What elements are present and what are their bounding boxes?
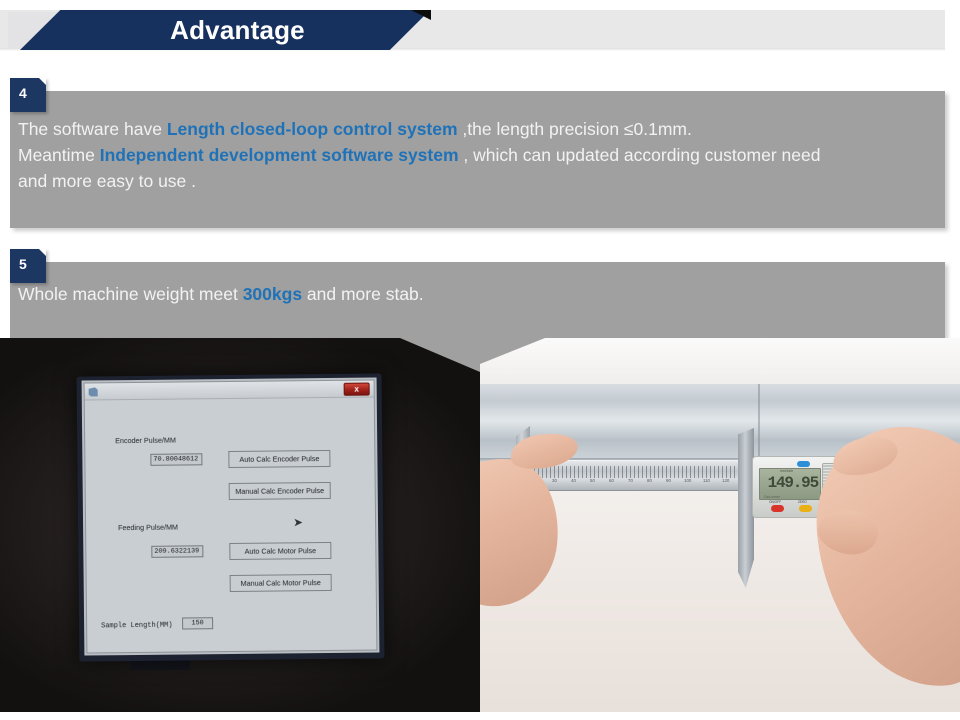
slide-root: Advantage 4 The software have Length clo… bbox=[0, 0, 960, 720]
caliper-lcd-display: mm/inch 149.95 Calc meter bbox=[759, 468, 821, 500]
notch-left-triangle bbox=[400, 338, 480, 372]
panel-4-line-3-part-1: and more easy to use . bbox=[18, 171, 196, 191]
panel-5-line-1: Whole machine weight meet 300kgs and mor… bbox=[18, 281, 933, 307]
manual-calc-encoder-pulse-button[interactable]: Manual Calc Encoder Pulse bbox=[229, 482, 331, 500]
caliper-tick-label: 100 bbox=[684, 478, 691, 483]
caliper-lcd-value: 149.95 bbox=[768, 474, 818, 492]
notch-right-triangle bbox=[480, 338, 545, 364]
bottom-white-strip bbox=[0, 712, 960, 720]
advantage-panel-5-text: Whole machine weight meet 300kgs and mor… bbox=[18, 281, 933, 307]
app-icon bbox=[89, 387, 98, 396]
monitor-bezel: x Encoder Pulse/MM 70.80048612 Auto Calc… bbox=[77, 373, 385, 661]
image-row: x Encoder Pulse/MM 70.80048612 Auto Calc… bbox=[0, 338, 960, 712]
badge-fold-corner-icon bbox=[39, 78, 46, 85]
manual-calc-motor-pulse-button[interactable]: Manual Calc Motor Pulse bbox=[230, 574, 332, 592]
badge-number-4-label: 4 bbox=[19, 85, 27, 101]
encoder-pulse-label: Encoder Pulse/MM bbox=[115, 436, 176, 446]
caliper-zero-button[interactable] bbox=[799, 505, 812, 512]
encoder-pulse-input[interactable]: 70.80048612 bbox=[150, 453, 202, 466]
panel-4-line-2-part-3: , which can updated according customer n… bbox=[459, 145, 821, 165]
sample-length-label: Sample Length(MM) bbox=[101, 622, 173, 631]
caliper-tick-label: 40 bbox=[571, 478, 576, 483]
photo-software-screen: x Encoder Pulse/MM 70.80048612 Auto Calc… bbox=[0, 338, 480, 712]
photo-caliper-measurement: SVT 30 40 50 60 70 80 90 100 110 120 130… bbox=[480, 338, 960, 712]
badge-number-4: 4 bbox=[10, 78, 46, 112]
caliper-tick-label: 50 bbox=[590, 478, 595, 483]
panel-4-line-2: Meantime Independent development softwar… bbox=[18, 142, 933, 168]
panel-5-line-1-highlight: 300kgs bbox=[243, 284, 302, 304]
advantage-panel-4-text: The software have Length closed-loop con… bbox=[18, 116, 933, 194]
panel-4-line-1-highlight: Length closed-loop control system bbox=[167, 119, 458, 139]
badge-fold-corner-icon bbox=[39, 249, 46, 256]
dialog-body: Encoder Pulse/MM 70.80048612 Auto Calc E… bbox=[85, 397, 377, 652]
caliper-tick-label: 80 bbox=[647, 478, 652, 483]
panel-4-line-1-part-3: ,the length precision ≤0.1mm. bbox=[458, 119, 692, 139]
badge-number-5-label: 5 bbox=[19, 256, 27, 272]
monitor-screen: x Encoder Pulse/MM 70.80048612 Auto Calc… bbox=[82, 377, 380, 655]
calibration-dialog: x Encoder Pulse/MM 70.80048612 Auto Calc… bbox=[84, 379, 378, 653]
caliper-tick-label: 120 bbox=[722, 478, 729, 483]
background-wall bbox=[480, 338, 960, 386]
feeding-pulse-label: Feeding Pulse/MM bbox=[118, 523, 178, 533]
photo-notch-overlay bbox=[400, 338, 545, 372]
caliper-mode-button[interactable] bbox=[797, 461, 810, 467]
caliper-lcd-bottom-label: Calc meter bbox=[764, 495, 780, 499]
caliper-zero-label: ZERO bbox=[798, 500, 807, 504]
badge-number-5: 5 bbox=[10, 249, 46, 283]
panel-5-line-1-part-1: Whole machine weight meet bbox=[18, 284, 243, 304]
panel-4-line-2-part-1: Meantime bbox=[18, 145, 100, 165]
caliper-tick-label: 90 bbox=[666, 478, 671, 483]
page-title: Advantage bbox=[65, 10, 410, 50]
close-icon[interactable]: x bbox=[344, 383, 370, 396]
caliper-tick-label: 110 bbox=[703, 478, 710, 483]
mouse-pointer-icon: ➤ bbox=[293, 516, 303, 528]
caliper-on-off-label: ON/OFF bbox=[769, 500, 781, 504]
caliper-lcd-unit-label: mm/inch bbox=[780, 469, 793, 473]
auto-calc-motor-pulse-button[interactable]: Auto Calc Motor Pulse bbox=[229, 542, 331, 560]
caliper-power-button[interactable] bbox=[771, 505, 784, 512]
metal-sheet-seam bbox=[758, 384, 760, 460]
feeding-pulse-input[interactable]: 209.6322139 bbox=[151, 545, 203, 558]
panel-4-line-2-highlight: Independent development software system bbox=[100, 145, 459, 165]
caliper-tick-label: 70 bbox=[628, 478, 633, 483]
panel-4-line-1: The software have Length closed-loop con… bbox=[18, 116, 933, 142]
caliper-tick-label: 30 bbox=[552, 478, 557, 483]
sample-length-input[interactable]: 150 bbox=[182, 617, 213, 629]
caliper-tick-label: 60 bbox=[609, 478, 614, 483]
panel-4-line-1-part-1: The software have bbox=[18, 119, 167, 139]
auto-calc-encoder-pulse-button[interactable]: Auto Calc Encoder Pulse bbox=[228, 450, 330, 468]
panel-4-line-3: and more easy to use . bbox=[18, 168, 933, 194]
monitor-stand bbox=[130, 660, 190, 670]
panel-5-line-1-part-3: and more stab. bbox=[302, 284, 424, 304]
